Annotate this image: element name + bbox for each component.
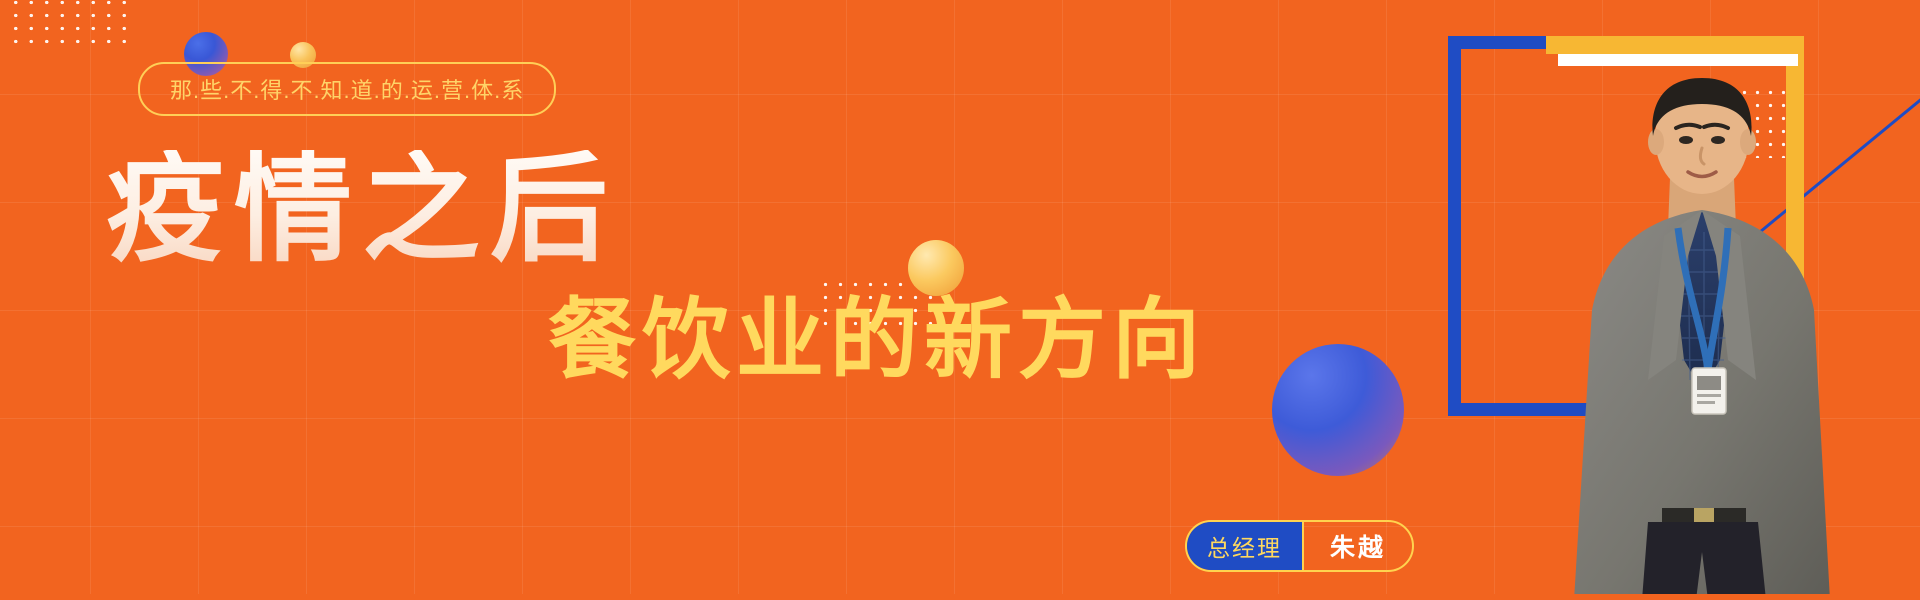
avatar — [1552, 60, 1852, 600]
speaker-role: 总经理 — [1187, 522, 1304, 570]
subtitle-pill: 那.些.不.得.不.知.道.的.运.营.体.系 — [138, 62, 556, 116]
speaker-portrait-icon — [1552, 60, 1852, 600]
speaker-name: 朱越 — [1304, 522, 1412, 570]
page-title-line-2: 餐饮业的新方向 — [548, 296, 1206, 384]
page-title-line-1: 疫情之后 — [106, 150, 618, 268]
promo-banner: 那.些.不.得.不.知.道.的.运.营.体.系 疫情之后 餐饮业的新方向 总经理… — [0, 0, 1920, 600]
bottom-strip — [0, 594, 1920, 600]
sphere-icon-blue-large — [1272, 344, 1404, 476]
photo-frame-yellow-top — [1546, 36, 1804, 54]
speaker-photo-zone — [1430, 0, 1920, 600]
subtitle-text: 那.些.不.得.不.知.道.的.运.营.体.系 — [170, 73, 524, 105]
speaker-badge: 总经理 朱越 — [1185, 520, 1414, 572]
dot-matrix-icon-top-left — [8, 0, 132, 48]
